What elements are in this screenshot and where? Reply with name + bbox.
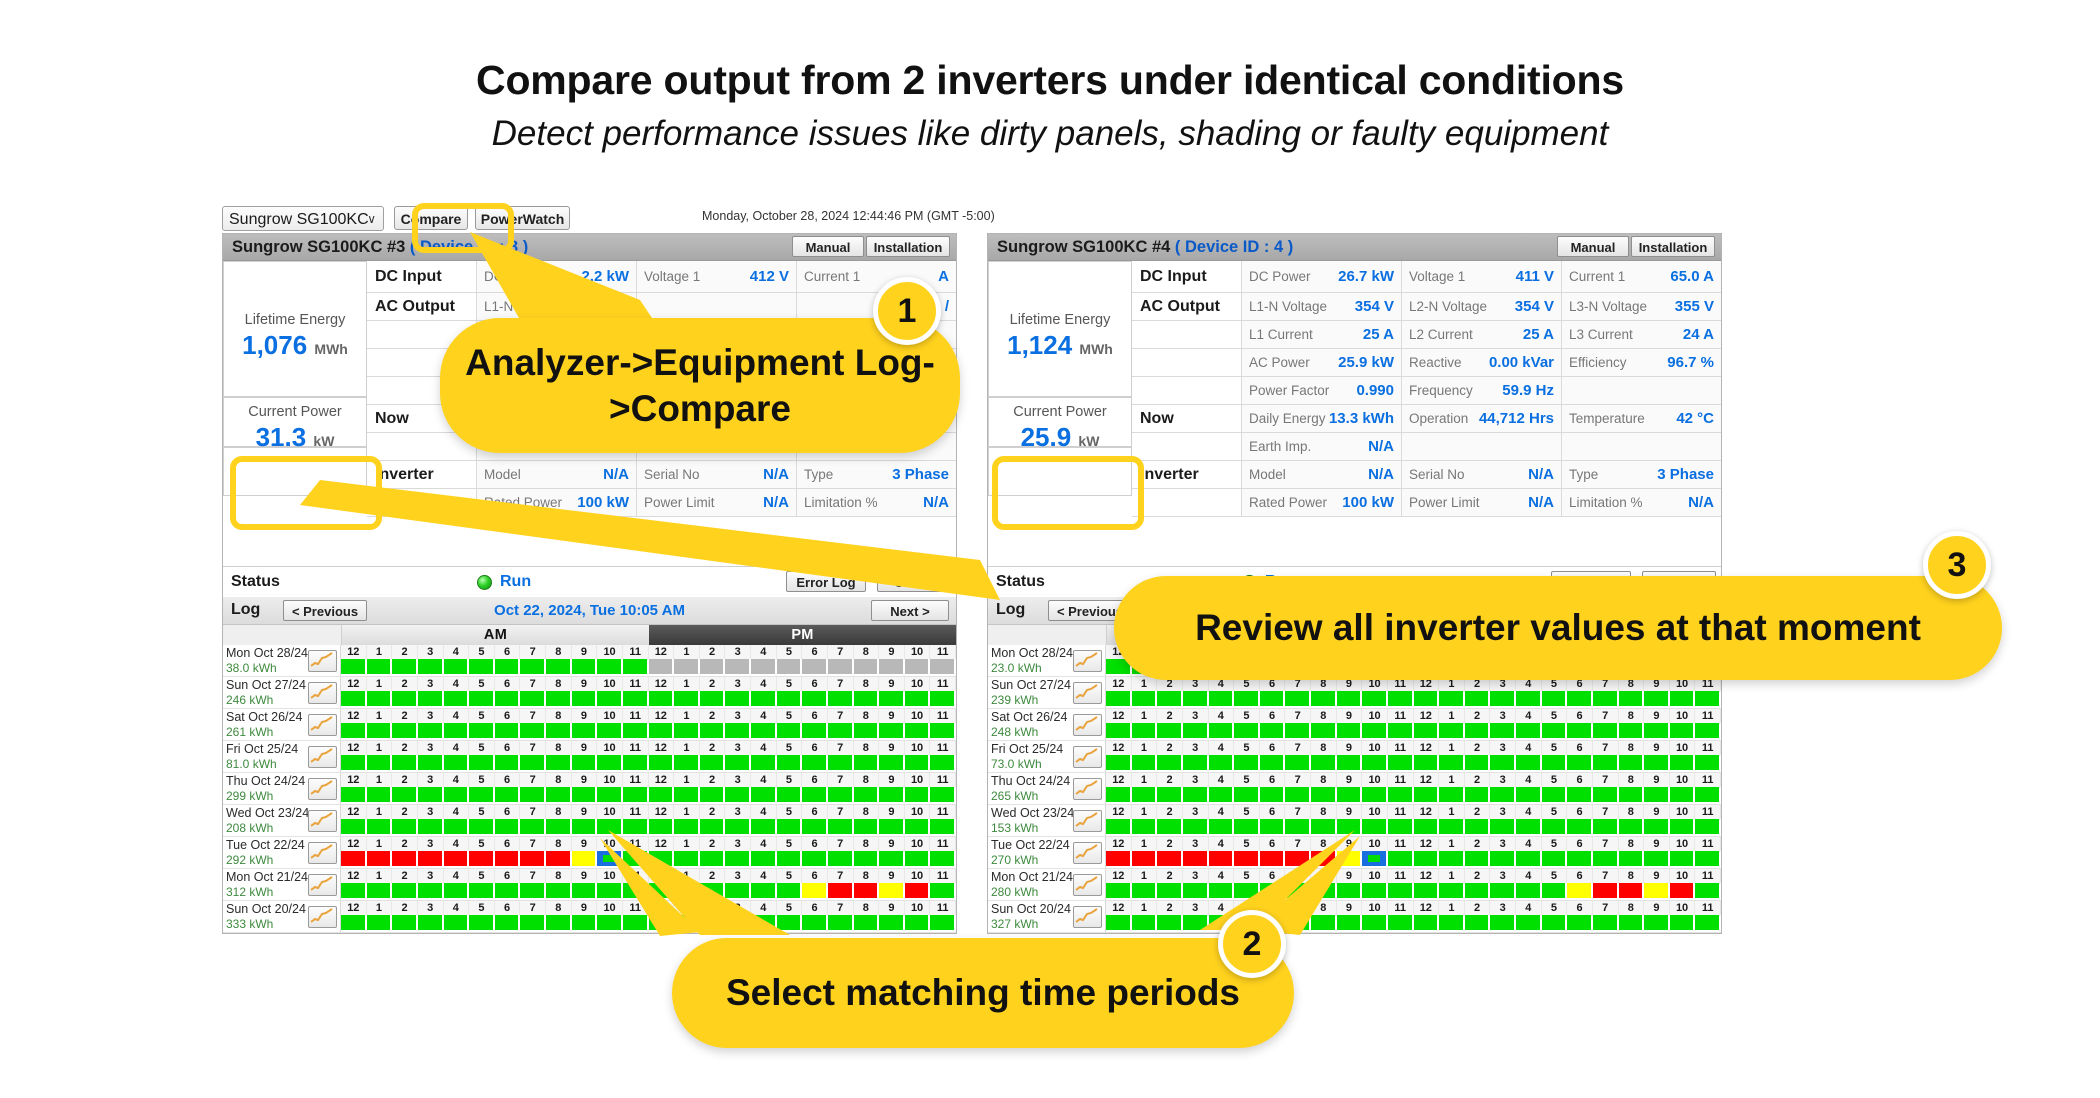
highlight-compare-button: [412, 203, 514, 253]
highlight-current-power-right: [992, 456, 1144, 530]
callout-2-text: Select matching time periods: [726, 972, 1240, 1014]
callout-2-bubble: Select matching time periods: [672, 938, 1294, 1048]
callout-3-bubble: Review all inverter values at that momen…: [1114, 576, 2002, 680]
callout-3-badge: 3: [1923, 531, 1991, 599]
leader-lines: [0, 0, 2100, 1098]
callout-1-text: Analyzer->Equipment Log->Compare: [440, 340, 960, 430]
callout-1-badge: 1: [873, 277, 941, 345]
callout-3-text: Review all inverter values at that momen…: [1195, 607, 1921, 649]
highlight-current-power-left: [230, 456, 382, 530]
callout-2-badge: 2: [1218, 910, 1286, 978]
callout-1-bubble: Analyzer->Equipment Log->Compare: [440, 318, 960, 453]
